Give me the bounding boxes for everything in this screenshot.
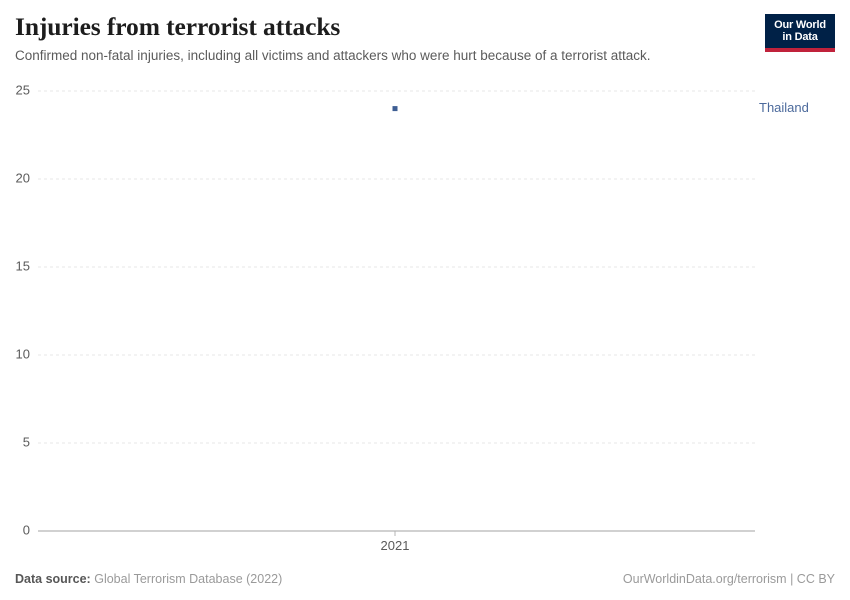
- x-axis-group: 2021: [381, 531, 410, 553]
- logo-line-1: Our World: [774, 19, 826, 31]
- y-axis-labels-group: 0510152025: [16, 82, 30, 537]
- data-points-group: [393, 106, 398, 111]
- data-source-key: Data source:: [15, 572, 91, 586]
- our-world-in-data-logo[interactable]: Our World in Data: [765, 14, 835, 52]
- logo-line-2: in Data: [782, 31, 817, 43]
- series-labels-group: Thailand: [759, 100, 809, 115]
- y-axis-tick-label: 5: [23, 434, 30, 449]
- y-axis-tick-label: 25: [16, 82, 30, 97]
- chart-header: Injuries from terrorist attacks Confirme…: [15, 12, 755, 65]
- y-axis-tick-label: 10: [16, 346, 30, 361]
- scatter-plot-svg: 0510152025 2021 Thailand: [0, 0, 850, 600]
- chart-footer: Data source: Global Terrorism Database (…: [15, 570, 835, 588]
- plot-area: 0510152025 2021 Thailand: [0, 0, 850, 600]
- y-axis-tick-label: 20: [16, 170, 30, 185]
- series-label-thailand[interactable]: Thailand: [759, 100, 809, 115]
- attribution-link[interactable]: OurWorldinData.org/terrorism | CC BY: [623, 572, 835, 586]
- owid-chart: Injuries from terrorist attacks Confirme…: [0, 0, 850, 600]
- data-point-thailand[interactable]: [393, 106, 398, 111]
- x-axis-tick-label: 2021: [381, 538, 410, 553]
- gridlines-group: [38, 91, 755, 531]
- chart-subtitle: Confirmed non-fatal injuries, including …: [15, 47, 755, 65]
- data-source: Data source: Global Terrorism Database (…: [15, 572, 282, 586]
- y-axis-tick-label: 15: [16, 258, 30, 273]
- data-source-value: Global Terrorism Database (2022): [94, 572, 282, 586]
- page-title: Injuries from terrorist attacks: [15, 12, 755, 42]
- y-axis-tick-label: 0: [23, 522, 30, 537]
